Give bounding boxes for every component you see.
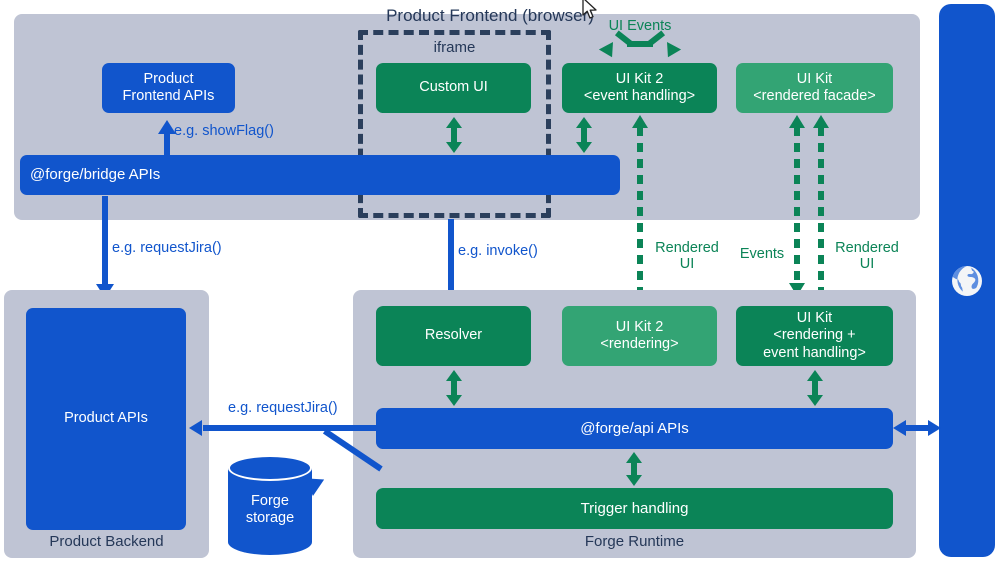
- request-jira-right-shaft: [203, 425, 378, 431]
- resolver-box[interactable]: Resolver: [376, 306, 531, 366]
- internet-pill[interactable]: [939, 4, 995, 557]
- arrowhead-down: [807, 395, 823, 406]
- custom-ui-bridge-arrow: [444, 117, 464, 153]
- arrowhead-down: [446, 395, 462, 406]
- product-apis-box[interactable]: Product APIs: [26, 308, 186, 530]
- mouse-cursor: [582, 0, 600, 22]
- product-frontend-apis-box[interactable]: Product Frontend APIs: [102, 63, 235, 113]
- invoke-label: e.g. invoke(): [458, 243, 538, 259]
- api-internet-arrowhead-left: [893, 420, 906, 436]
- show-flag-label: e.g. showFlag(): [174, 123, 274, 139]
- events-arrowhead-up: [789, 115, 805, 128]
- events-label: Events: [733, 246, 791, 262]
- forge-runtime-title: Forge Runtime: [353, 533, 916, 550]
- forge-storage-cylinder[interactable]: Forge storage: [228, 455, 312, 555]
- request-jira-right-label: e.g. requestJira(): [228, 400, 338, 416]
- ui-kit-rendered-facade-box[interactable]: UI Kit <rendered facade>: [736, 63, 893, 113]
- custom-ui-box[interactable]: Custom UI: [376, 63, 531, 113]
- rendered-ui-left-arrowhead: [632, 115, 648, 128]
- rendered-ui-right-dash: [818, 127, 824, 295]
- forge-api-apis-bar[interactable]: @forge/api APIs: [376, 408, 893, 449]
- rendered-ui-left-dash: [637, 127, 643, 295]
- rendered-ui-right-label: Rendered UI: [828, 240, 906, 272]
- globe-icon: [949, 263, 985, 299]
- ui-kit-api-arrow: [805, 370, 825, 406]
- forge-storage-label: Forge storage: [228, 455, 312, 555]
- rendered-ui-left-label: Rendered UI: [648, 240, 726, 272]
- ui-kit2-bridge-arrow: [574, 117, 594, 153]
- arrowhead-down: [626, 475, 642, 486]
- api-internet-arrowhead-right: [928, 420, 941, 436]
- resolver-api-arrow: [444, 370, 464, 406]
- api-trigger-arrow: [624, 452, 644, 486]
- request-jira-left-label: e.g. requestJira(): [112, 240, 222, 256]
- ui-kit-rendering-event-handling-box[interactable]: UI Kit <rendering + event handling>: [736, 306, 893, 366]
- trigger-handling-bar[interactable]: Trigger handling: [376, 488, 893, 529]
- ui-kit-2-event-handling-box[interactable]: UI Kit 2 <event handling>: [562, 63, 717, 113]
- invoke-shaft: [448, 219, 454, 291]
- arrowhead-down: [446, 142, 462, 153]
- events-dash: [794, 127, 800, 285]
- ui-events-label: UI Events: [592, 18, 688, 34]
- request-jira-right-arrowhead: [189, 420, 202, 436]
- iframe-label: iframe: [358, 39, 551, 56]
- product-backend-title: Product Backend: [4, 533, 209, 550]
- diagram-canvas: Product Frontend (browser) iframe Produc…: [0, 0, 999, 562]
- arrowhead-down: [576, 142, 592, 153]
- ui-kit-2-rendering-box[interactable]: UI Kit 2 <rendering>: [562, 306, 717, 366]
- rendered-ui-right-arrowhead: [813, 115, 829, 128]
- request-jira-left-shaft: [102, 196, 108, 285]
- forge-bridge-apis-bar[interactable]: @forge/bridge APIs: [20, 155, 620, 195]
